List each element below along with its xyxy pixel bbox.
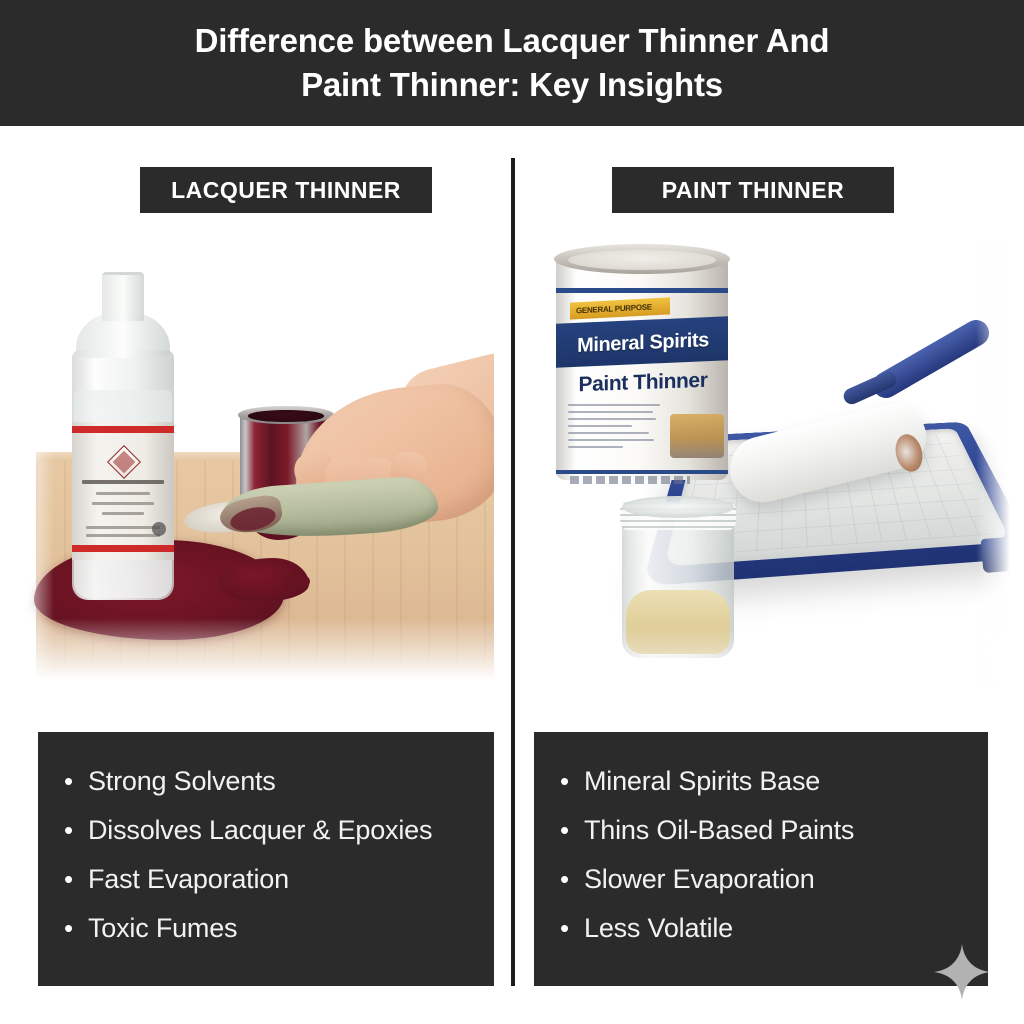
bullet-icon: • <box>560 761 570 801</box>
list-item: • Slower Evaporation <box>534 859 988 908</box>
bullet-icon: • <box>64 908 74 948</box>
list-item: • Dissolves Lacquer & Epoxies <box>38 810 494 859</box>
list-item-label: Fast Evaporation <box>88 859 289 899</box>
photo-fade-bottom <box>530 628 1010 698</box>
can-fine-print <box>568 404 660 466</box>
bottle-label <box>72 422 174 560</box>
bottle-label-line <box>86 526 160 529</box>
column-badge-paint-thinner-label: PAINT THINNER <box>662 177 844 204</box>
paint-tray-foot <box>981 537 1010 573</box>
lacquer-thinner-bottle <box>66 272 178 602</box>
bottle-label-line <box>86 534 160 537</box>
bullet-icon: • <box>64 810 74 850</box>
bullet-icon: • <box>64 859 74 899</box>
roller-handle <box>868 315 994 403</box>
mason-jar-liquid <box>626 590 730 654</box>
lacquer-thinner-photo <box>14 240 494 688</box>
bottle-label-line <box>92 502 154 505</box>
can-banner-text: Mineral Spirits <box>560 322 726 363</box>
bullet-icon: • <box>560 810 570 850</box>
bullet-icon: • <box>560 859 570 899</box>
page-title-line-1: Difference between Lacquer Thinner And <box>195 22 830 59</box>
paint-thinner-can-lid <box>568 250 716 270</box>
list-item-label: Less Volatile <box>584 908 733 948</box>
list-item: • Strong Solvents <box>38 761 494 810</box>
list-item-label: Toxic Fumes <box>88 908 237 948</box>
list-item-label: Thins Oil-Based Paints <box>584 810 854 850</box>
can-label-stripe-bottom <box>556 470 728 474</box>
can-volume-text <box>570 476 690 484</box>
page-title: Difference between Lacquer Thinner And P… <box>72 19 952 106</box>
bottle-neck <box>102 272 144 321</box>
can-subtitle-text: Paint Thinner <box>560 365 726 401</box>
can-label-stripe-top <box>556 288 728 293</box>
header-bar: Difference between Lacquer Thinner And P… <box>0 0 1024 126</box>
bullet-icon: • <box>64 761 74 801</box>
column-badge-lacquer-thinner-label: LACQUER THINNER <box>171 177 401 204</box>
bullet-icon: • <box>560 908 570 948</box>
bottle-label-brand-line <box>82 480 164 484</box>
paint-thinner-photo: GENERAL PURPOSE Mineral Spirits Paint Th… <box>530 238 1010 698</box>
list-item-label: Strong Solvents <box>88 761 276 801</box>
list-item: • Fast Evaporation <box>38 859 494 908</box>
infographic-canvas: Difference between Lacquer Thinner And P… <box>0 0 1024 1024</box>
list-item: • Thins Oil-Based Paints <box>534 810 988 859</box>
column-badge-paint-thinner: PAINT THINNER <box>612 167 894 213</box>
list-item-label: Slower Evaporation <box>584 859 815 899</box>
bottle-label-line <box>96 492 150 495</box>
list-item-label: Dissolves Lacquer & Epoxies <box>88 810 432 850</box>
list-item: • Mineral Spirits Base <box>534 761 988 810</box>
hazard-diamond-icon <box>107 445 141 479</box>
column-badge-lacquer-thinner: LACQUER THINNER <box>140 167 432 213</box>
bottle-label-line <box>102 512 144 515</box>
mason-jar-mouth <box>622 496 734 518</box>
page-title-line-2: Paint Thinner: Key Insights <box>72 63 952 107</box>
column-divider <box>511 158 515 986</box>
bottle-label-red-band-top <box>72 426 174 433</box>
can-product-illustration <box>670 414 724 458</box>
paint-can-opening <box>248 410 324 422</box>
list-item: • Toxic Fumes <box>38 908 494 957</box>
lacquer-thinner-feature-panel: • Strong Solvents • Dissolves Lacquer & … <box>38 732 494 986</box>
sparkle-icon <box>934 944 990 1000</box>
paint-thinner-feature-panel: • Mineral Spirits Base • Thins Oil-Based… <box>534 732 988 986</box>
list-item-label: Mineral Spirits Base <box>584 761 820 801</box>
bottle-label-seal-icon <box>152 522 166 536</box>
list-item: • Less Volatile <box>534 908 988 957</box>
bottle-label-red-band-bottom <box>72 545 174 552</box>
